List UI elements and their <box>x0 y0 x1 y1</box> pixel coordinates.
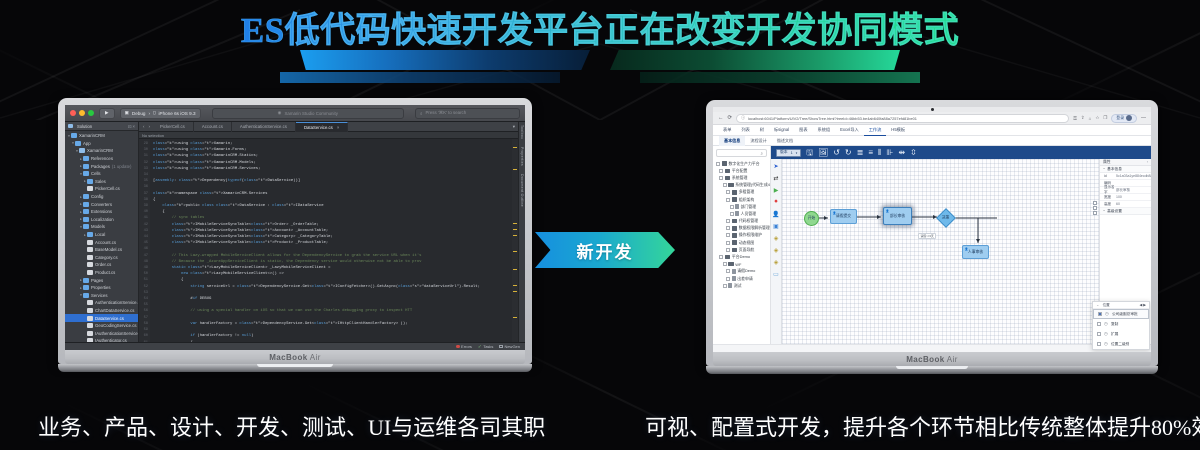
app-tree-list[interactable]: 数字化生产力平台平台配置系统管理系统管理(代码生成4.4)多租管理组织架构部门管… <box>713 160 770 344</box>
app-menu-item[interactable]: 工作流 <box>864 125 887 136</box>
context-menu-item[interactable]: ◷复制 <box>1093 319 1149 329</box>
context-menu-item-label: 位置二级别 <box>1111 342 1129 347</box>
status-bar-item[interactable]: NewGen <box>499 344 520 349</box>
align-right-icon[interactable]: ≡ <box>868 149 873 157</box>
solution-tree-item[interactable]: ▸Local <box>65 231 138 239</box>
solution-tree-item[interactable]: ▸Sales <box>65 178 138 186</box>
reload-icon[interactable]: ⟳ <box>728 115 733 121</box>
file-icon <box>732 269 736 274</box>
align-center-vertical-icon[interactable]: ⇳ <box>910 149 917 157</box>
solution-tree-item[interactable]: ▸Pages <box>65 276 138 284</box>
solution-tree-item[interactable]: ▾App <box>65 140 138 148</box>
tree-checkbox[interactable] <box>726 277 730 281</box>
distribute-horizontal-icon[interactable]: ⫴ <box>878 149 881 157</box>
workflow-node-label: 开始 <box>808 216 816 221</box>
swap-icon[interactable]: ⇄ <box>772 174 780 182</box>
align-center-horizontal-icon[interactable]: ⇹ <box>898 149 905 157</box>
tab-overflow-icon[interactable]: ▾ <box>511 124 518 130</box>
app-tree-item-label: WF <box>735 262 741 267</box>
solution-tree-item-label: Cells <box>91 171 101 176</box>
app-tree-item[interactable]: 动态视图 <box>714 239 770 246</box>
context-menu-header: ← 位置 ◀ ▶ <box>1093 302 1149 309</box>
solution-tree-item-label: App <box>83 141 91 146</box>
folder-icon <box>83 224 89 229</box>
chevron-right-icon[interactable]: › <box>1147 160 1148 164</box>
solution-tree-item-label: Order.cs <box>95 262 111 267</box>
workflow-node-label: 决策 <box>942 216 950 221</box>
solution-tree-item[interactable]: BaseModel.cs <box>65 246 138 254</box>
solution-tree-item[interactable]: ▾Services <box>65 291 138 299</box>
properties-section-header[interactable]: −基本信息 <box>1100 166 1151 173</box>
laptop-left-chin: MacBook Air <box>65 350 525 364</box>
handle-3[interactable] <box>1093 211 1097 215</box>
context-menu-item-label: 复制 <box>1111 322 1118 327</box>
context-menu-item[interactable]: ◷公司级副总审批 <box>1093 309 1149 319</box>
editor-tabs[interactable]: PickerCell.csAccount.csAuthenticationSer… <box>152 122 511 132</box>
app-menu-item[interactable]: H5模板 <box>886 127 910 133</box>
close-icon[interactable] <box>70 110 76 116</box>
tree-search-input[interactable]: ⌕ <box>716 149 767 157</box>
project-icon <box>79 148 85 153</box>
node-handle-group[interactable] <box>1093 201 1097 215</box>
folder-icon <box>83 293 89 298</box>
laptop-left-base <box>58 364 532 372</box>
folder-icon <box>725 255 731 260</box>
solution-tree-item[interactable]: ▾XamarinCRM <box>65 147 138 155</box>
tree-checkbox[interactable] <box>723 284 727 288</box>
laptop-right: ← ⟳ ⓘ localhost:6041/Platform/UIV2/Tree/… <box>706 100 1158 374</box>
undo-icon[interactable]: ↺ <box>833 149 840 157</box>
deco-bar-blue <box>300 50 590 70</box>
folder-icon <box>83 278 89 283</box>
ide-status-bar: Errors✓TasksNewGen <box>65 342 525 350</box>
code-text[interactable]: class="k">using class="t">Xamarin; class… <box>150 139 512 342</box>
url-text: localhost:6041/Platform/UIV2/Tree/ShowTr… <box>748 116 917 121</box>
properties-row[interactable]: 显示名字部长审核 <box>1100 187 1151 194</box>
app-tree-item[interactable]: 测试 <box>714 282 770 289</box>
collapse-icon[interactable]: − <box>1103 167 1105 171</box>
editor-tab-label: AuthenticationService.cs <box>240 124 287 129</box>
folder-icon <box>75 141 81 146</box>
app-menu-item[interactable]: 标signal <box>769 127 794 133</box>
more-icon[interactable]: — <box>1141 115 1146 121</box>
laptop-right-camera <box>713 107 1151 112</box>
caption-left: 业务、产品、设计、开发、测试、UI与运维各司其职 <box>38 410 545 442</box>
app-tree-item[interactable]: 组织架构 <box>714 196 770 203</box>
solution-tree-item-label: Config <box>91 194 103 199</box>
tree-checkbox[interactable] <box>719 176 723 180</box>
solution-tree-item[interactable]: ▸Extensions <box>65 208 138 216</box>
context-menu-checkbox[interactable] <box>1097 322 1101 326</box>
shape-palette[interactable]: ➤ ⇄ ▶ ⏺ 👤 ▣ ◈ ◈ ◈ ▭ <box>771 159 782 344</box>
solution-tree-item-label: Local <box>95 232 105 237</box>
solution-tree-item[interactable]: ▾Models <box>65 223 138 231</box>
context-menu-nav[interactable]: ◀ ▶ <box>1139 303 1146 307</box>
tree-checkbox[interactable] <box>726 226 730 230</box>
app-tree-item[interactable]: 数字化生产力平台 <box>714 160 770 167</box>
status-bar-item[interactable]: Errors <box>456 344 472 349</box>
workflow-node[interactable]: 请假提交👤 <box>830 209 857 224</box>
panel-pin-icon[interactable]: ⊡ × <box>128 124 135 129</box>
properties-title: 属性 <box>1103 160 1111 165</box>
solution-tree-item[interactable]: PickerCell.cs <box>65 185 138 193</box>
solution-tree-item[interactable]: ▸Config <box>65 193 138 201</box>
workflow-edge-label: 请假>=3天 <box>918 233 936 239</box>
laptop-right-brand: MacBook Air <box>906 355 958 364</box>
status-bar-item[interactable]: ✓Tasks <box>478 344 494 350</box>
app-tree-item[interactable]: 数据权限解析管理 <box>714 225 770 232</box>
solution-tree-item-label: GeoCodingService.cs <box>95 323 137 328</box>
file-icon <box>87 323 93 328</box>
laptop-right-screen: ← ⟳ ⓘ localhost:6041/Platform/UIV2/Tree/… <box>713 107 1151 352</box>
solution-panel-header: Solution ⊡ × <box>65 122 138 131</box>
context-menu-checkbox[interactable] <box>1098 312 1102 316</box>
minimize-icon[interactable] <box>79 110 85 116</box>
key-icon[interactable]: ⚿ <box>1073 116 1076 121</box>
save-icon[interactable]: 🖫 <box>806 149 813 157</box>
folder-icon <box>722 161 728 166</box>
maximize-icon[interactable] <box>88 110 94 116</box>
tree-checkbox[interactable] <box>719 169 723 173</box>
app-menu-item[interactable]: 树 <box>755 127 769 133</box>
editor-tab[interactable]: PickerCell.cs <box>152 122 194 132</box>
app-sub-tab[interactable]: 描述文档 <box>772 136 798 146</box>
app-sub-tabs[interactable]: 基本信息流程设计描述文档 <box>713 136 1151 146</box>
ide-search-box[interactable]: ⌕ Press '⌘K' to search <box>415 108 520 119</box>
app-menu-item[interactable]: 系统组 <box>813 127 836 133</box>
properties-section-label: 高级设置 <box>1107 209 1122 214</box>
app-menu-item[interactable]: Excel导入 <box>835 127 864 133</box>
laptop-right-chin: MacBook Air <box>713 352 1151 366</box>
tree-checkbox[interactable] <box>726 248 730 252</box>
file-icon <box>87 247 93 252</box>
tree-checkbox[interactable] <box>719 255 723 259</box>
context-menu-checkbox[interactable] <box>1097 332 1101 336</box>
config-icon: ▣ <box>125 110 129 116</box>
context-menu[interactable]: ← 位置 ◀ ▶ ◷公司级副总审批◷复制◷扩展◷位置二级别 <box>1092 301 1150 350</box>
app-body: ⌕ 数字化生产力平台平台配置系统管理系统管理(代码生成4.4)多租管理组织架构部… <box>713 146 1151 344</box>
properties-row[interactable]: 高度60 <box>1100 201 1151 208</box>
profile-label: 登录 <box>1116 116 1124 121</box>
check-icon: ✓ <box>478 344 482 350</box>
app-tree-item-label: 数据权限解析管理 <box>739 225 770 231</box>
info-circle-icon[interactable]: ⓘ <box>741 115 745 121</box>
copy-icon: ◷ <box>1104 321 1108 327</box>
solution-tree-item-label: Account.cs <box>95 240 116 245</box>
tree-checkbox[interactable] <box>726 198 730 202</box>
tree-checkbox[interactable] <box>716 162 720 166</box>
user-task-icon: 👤 <box>965 247 969 251</box>
solution-tree-item[interactable]: ChartDataService.cs <box>65 307 138 315</box>
app-sub-tab[interactable]: 基本信息 <box>719 136 745 146</box>
folder-icon <box>732 240 738 245</box>
solution-tree-item[interactable]: IAuthenticationService.cs <box>65 329 138 337</box>
share-icon[interactable]: ⇪ <box>1081 115 1085 121</box>
tree-checkbox[interactable] <box>726 190 730 194</box>
solution-tree-item[interactable]: Order.cs <box>65 261 138 269</box>
app-menu-item[interactable]: 图表 <box>794 127 812 133</box>
solution-tree-item-label: XamarinCRM <box>79 133 105 138</box>
solution-tree-item[interactable]: AuthenticationService.cs <box>65 299 138 307</box>
app-tree-item[interactable]: 部门管理 <box>714 203 770 210</box>
app-tree-item-label: 请假Demo <box>737 268 755 274</box>
solution-tree-item-label: DataService.cs <box>95 316 124 321</box>
right-rail-tab[interactable]: Toolbox <box>520 125 524 139</box>
solution-tree-item[interactable]: Product.cs <box>65 269 138 277</box>
workflow-node[interactable]: 人事审核👤 <box>962 245 989 259</box>
solution-tree-item[interactable]: GeoCodingService.cs <box>65 322 138 330</box>
app-tree-item[interactable]: 平台配置 <box>714 167 770 174</box>
solution-tree-item-label: Product.cs <box>95 270 115 275</box>
editor-breadcrumb: No selection <box>139 132 518 139</box>
user-task-icon: 👤 <box>886 209 890 213</box>
model-text: Air <box>310 353 321 362</box>
app-tree-item-label: 系统管理 <box>732 175 748 181</box>
workflow-canvas[interactable]: 开始请假提交👤部长审核👤决策人事审核👤 请假>=3天 <box>782 159 1099 344</box>
solution-tree-item[interactable]: ▸Properties <box>65 284 138 292</box>
version-selector[interactable]: 版本 1 ▾ <box>776 149 801 157</box>
gateway-3-icon[interactable]: ◈ <box>772 258 780 266</box>
device-icon: ▯ <box>153 110 156 116</box>
ide-status-center: ◉ Xamarin Studio Community <box>212 108 404 119</box>
file-icon <box>87 255 93 260</box>
app-tree-item-label: 测试 <box>734 283 742 289</box>
editor-tab[interactable]: AuthenticationService.cs <box>232 122 296 132</box>
file-icon <box>735 204 739 209</box>
laptop-left-brand: MacBook Air <box>269 353 321 362</box>
app-tree-item-label: 数字化生产力平台 <box>729 161 760 167</box>
ide-body: Solution ⊡ × ▾XamarinCRM▾App▾XamarinCRM▸… <box>65 122 525 342</box>
solution-tree-item-label: XamarinCRM <box>87 148 113 153</box>
back-arrow-icon[interactable]: ← <box>718 115 724 121</box>
cursor-icon[interactable]: ➤ <box>772 162 780 170</box>
search-placeholder: Press '⌘K' to search <box>425 110 466 116</box>
solution-tree-item[interactable]: Account.cs <box>65 238 138 246</box>
folder-icon <box>725 169 731 174</box>
app-tree-item[interactable]: 请假Demo <box>714 268 770 275</box>
app-tree-item-label: 人员管理 <box>741 211 757 217</box>
file-icon <box>735 211 739 216</box>
gateway-2-icon[interactable]: ◈ <box>772 246 780 254</box>
workflow-connectors <box>782 159 1099 344</box>
star-icon[interactable]: ☆ <box>1095 115 1099 121</box>
solution-tree-item-label: Models <box>91 224 105 229</box>
editor-tab[interactable]: Account.cs <box>194 122 232 132</box>
back-icon[interactable]: ← <box>1096 303 1100 307</box>
solution-tree-item[interactable]: ▸Localization <box>65 216 138 224</box>
caption-right: 可视、配置式开发，提升各个环节相比传统整体提升80%效率 <box>645 410 1200 442</box>
folder-icon <box>71 133 77 138</box>
file-icon <box>87 300 93 305</box>
app-tree-item[interactable]: 操作权限维护 <box>714 232 770 239</box>
solution-tree-item[interactable]: Category.cs <box>65 254 138 262</box>
tree-checkbox[interactable] <box>723 262 727 266</box>
app-tree-item[interactable]: 人员管理 <box>714 210 770 217</box>
app-menu-item[interactable]: 表单 <box>718 127 736 133</box>
redo-icon[interactable]: ↻ <box>845 149 852 157</box>
solution-tree[interactable]: ▾XamarinCRM▾App▾XamarinCRM▸References▸Pa… <box>65 131 138 342</box>
code-editor[interactable]: 29 30 31 32 33 34 35 36 37 38 39 40 41 4… <box>139 139 518 342</box>
solution-tree-item-label: PickerCell.cs <box>95 186 120 191</box>
app-menu-item[interactable]: 列表 <box>736 127 754 133</box>
page-title: ES低代码快速开发平台正在改变开发协同模式 <box>241 2 959 53</box>
configuration-selector[interactable]: ▣ Debug › ▯ iPhone 6s iOS 9.3 <box>120 108 201 119</box>
app-tree-item-label: 系统管理(代码生成4.4) <box>735 182 770 188</box>
solution-tree-item[interactable]: ▸References <box>65 155 138 163</box>
file-icon <box>87 186 93 191</box>
solution-tree-item[interactable]: ▾Cells <box>65 170 138 178</box>
app-tree-item-label: 出差申请 <box>737 276 753 282</box>
status-bar-item-label: NewGen <box>504 344 520 349</box>
status-bar-item-label: Errors <box>461 344 472 349</box>
solution-tree-item-label: BaseModel.cs <box>95 247 122 252</box>
gateway-icon[interactable]: ◈ <box>772 234 780 242</box>
context-menu-item[interactable]: ◷扩展 <box>1093 329 1149 339</box>
app-sub-tab[interactable]: 流程设计 <box>745 136 771 146</box>
solution-tree-item-note: (1 update) <box>112 164 132 169</box>
collapse-icon[interactable]: − <box>1103 209 1105 213</box>
bar-chart-icon[interactable]: ⊪ <box>886 149 893 157</box>
app-tree-item-label: 页面导航 <box>739 247 755 253</box>
folder-icon <box>83 285 89 290</box>
lock-icon[interactable]: ⌂ <box>1089 116 1092 121</box>
app-tree-item-label: 多租管理 <box>739 189 755 195</box>
app-tree-item-label: 操作权限维护 <box>739 232 762 238</box>
ide-right-rail[interactable]: ToolboxPropertiesDocument Outline <box>518 122 525 342</box>
workflow-node[interactable]: 部长审核👤 <box>883 207 912 225</box>
workflow-node[interactable]: 开始 <box>804 211 819 226</box>
folder-icon <box>732 190 738 195</box>
properties-row-value[interactable]: 60 <box>1116 202 1151 206</box>
properties-row-value[interactable]: 100 <box>1116 195 1151 199</box>
new-development-ribbon: 新开发 <box>535 232 675 268</box>
tree-checkbox[interactable] <box>730 212 734 216</box>
address-bar[interactable]: ⓘ localhost:6041/Platform/UIV2/Tree/Show… <box>736 114 1069 123</box>
solution-tree-item-label: Localization <box>91 217 114 222</box>
workflow-node-label: 部长审核 <box>890 214 905 219</box>
collections-icon[interactable]: ❐ <box>1103 115 1107 121</box>
version-label: 版本 <box>780 150 788 155</box>
search-icon: ⌕ <box>760 151 763 156</box>
folder-icon <box>732 226 738 231</box>
context-menu-item[interactable]: ◷位置二级别 <box>1093 339 1149 349</box>
visual-studio-ide: ▶ ▣ Debug › ▯ iPhone 6s iOS 9.3 ◉ Xamari… <box>65 105 525 350</box>
solution-tree-item-label: AuthenticationService.cs <box>95 300 138 305</box>
window-traffic-lights[interactable] <box>70 110 94 116</box>
device-label: iPhone 6s iOS 9.3 <box>159 111 196 116</box>
designer-toolbar[interactable]: 版本 1 ▾ 🖫 🖼 ↺ ↻ ≣ ≡ ⫴ ⊪ ⇹ <box>771 146 1151 159</box>
properties-section-label: 基本信息 <box>1107 167 1122 172</box>
start-node-icon[interactable]: ▶ <box>772 186 780 194</box>
file-icon <box>728 283 732 288</box>
context-menu-item-label: 公司级副总审批 <box>1112 312 1138 317</box>
solution-tree-item-label: Properties <box>91 285 111 290</box>
app-tree-item-label: 平台配置 <box>732 168 748 174</box>
handle-1[interactable] <box>1093 201 1097 205</box>
align-left-icon[interactable]: ≣ <box>857 149 864 157</box>
ribbon-label: 新开发 <box>577 238 634 263</box>
tree-checkbox[interactable] <box>730 205 734 209</box>
tree-checkbox[interactable] <box>726 269 730 273</box>
run-button[interactable]: ▶ <box>99 108 115 119</box>
user-task-icon[interactable]: 👤 <box>772 210 780 218</box>
properties-row-key: id <box>1100 174 1116 178</box>
line-number-gutter: 29 30 31 32 33 34 35 36 37 38 39 40 41 4… <box>139 139 150 342</box>
laptop-left-lid: ▶ ▣ Debug › ▯ iPhone 6s iOS 9.3 ◉ Xamari… <box>58 98 532 364</box>
close-icon[interactable]: × <box>337 125 340 130</box>
properties-section-header[interactable]: −高级设置 <box>1100 208 1151 215</box>
editor-tab[interactable]: DataService.cs × <box>296 122 348 132</box>
app-tree-item[interactable]: 出差申请 <box>714 275 770 282</box>
solution-tree-item[interactable]: ▾XamarinCRM <box>65 132 138 140</box>
folder-icon <box>83 194 89 199</box>
laptop-left: ▶ ▣ Debug › ▯ iPhone 6s iOS 9.3 ◉ Xamari… <box>58 98 532 372</box>
tree-checkbox[interactable] <box>726 233 730 237</box>
workflow-node-label: 请假提交 <box>836 214 851 219</box>
image-icon[interactable]: 🖼 <box>818 149 828 157</box>
browser-window: ← ⟳ ⓘ localhost:6041/Platform/UIV2/Tree/… <box>713 107 1151 352</box>
version-value: 1 <box>791 151 793 155</box>
error-icon <box>456 345 460 349</box>
container-icon[interactable]: ▭ <box>772 270 780 278</box>
app-tree-item[interactable]: 系统管理 <box>714 174 770 181</box>
doc-icon: ◷ <box>1105 311 1109 317</box>
solution-tree-item-label: Converters <box>91 202 112 207</box>
solution-tree-item[interactable]: ▸Packages(1 update) <box>65 162 138 170</box>
handle-2[interactable] <box>1093 206 1097 210</box>
app-tree-item[interactable]: 平台Demo <box>714 253 770 260</box>
file-icon <box>87 316 93 321</box>
solution-tree-item-label: Packages <box>91 164 110 169</box>
app-menu-bar[interactable]: 表单列表树标signal图表系统组Excel导入工作流H5模板 <box>713 125 1151 136</box>
app-tree-item[interactable]: WF <box>714 261 770 268</box>
right-rail-tab[interactable]: Properties <box>520 147 524 166</box>
app-tree-item[interactable]: 页面导航 <box>714 246 770 253</box>
tree-checkbox[interactable] <box>726 219 730 223</box>
app-tree-item[interactable]: 系统管理(代码生成4.4) <box>714 182 770 189</box>
model-text: Air <box>947 355 958 364</box>
file-icon <box>87 270 93 275</box>
avatar-icon <box>1126 115 1132 121</box>
code-minimap[interactable] <box>512 139 518 342</box>
folder-icon <box>728 183 734 188</box>
properties-content[interactable]: −基本信息id5c1a03a1ye884ecdb88041fd2ce7编码显示名… <box>1100 166 1151 215</box>
context-menu-checkbox[interactable] <box>1097 342 1101 346</box>
properties-row-value[interactable]: 部长审核 <box>1116 188 1151 193</box>
tree-checkbox[interactable] <box>726 241 730 245</box>
app-tree-item-label: 平台Demo <box>732 254 750 260</box>
deco-bar-green-secondary <box>640 72 920 83</box>
right-rail-tab[interactable]: Document Outline <box>520 174 524 207</box>
app-tree-panel: ⌕ 数字化生产力平台平台配置系统管理系统管理(代码生成4.4)多租管理组织架构部… <box>713 146 771 344</box>
app-tree-item[interactable]: 代码权管理 <box>714 218 770 225</box>
end-node-icon[interactable]: ⏺ <box>772 198 780 206</box>
solution-tree-item[interactable]: ▸Converters <box>65 200 138 208</box>
solution-tree-item-label: Sales <box>95 179 106 184</box>
context-menu-items[interactable]: ◷公司级副总审批◷复制◷扩展◷位置二级别 <box>1093 309 1149 349</box>
folder-icon <box>87 232 93 237</box>
properties-row[interactable]: 宽度100 <box>1100 194 1151 201</box>
tree-checkbox[interactable] <box>723 183 727 187</box>
solution-tree-item[interactable]: DataService.cs <box>65 314 138 322</box>
properties-row[interactable]: id5c1a03a1ye884ecdb88041fd2ce7 <box>1100 173 1151 180</box>
search-icon: ⌕ <box>420 111 422 116</box>
app-tree-item[interactable]: 多租管理 <box>714 189 770 196</box>
profile-chip[interactable]: 登录 <box>1111 114 1137 123</box>
properties-row-value[interactable]: 5c1a03a1ye884ecdb88041fd2ce7 <box>1116 174 1151 178</box>
user-task-icon: 👤 <box>833 211 837 215</box>
subprocess-icon[interactable]: ▣ <box>772 222 780 230</box>
